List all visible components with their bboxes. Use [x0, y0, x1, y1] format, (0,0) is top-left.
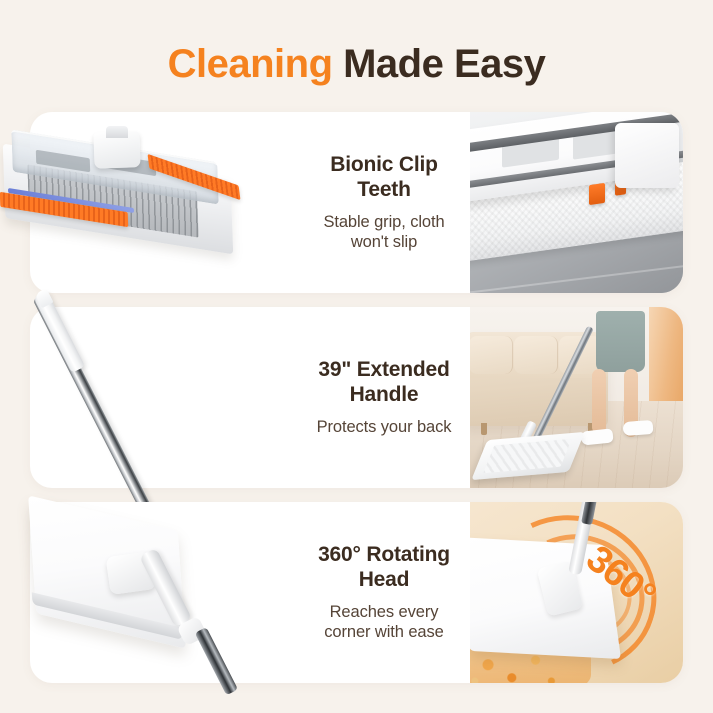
feature-subtitle-line-1: Protects your back	[317, 417, 452, 437]
feature-subtitle: Protects your back	[317, 417, 452, 437]
feature-card-extended-handle[interactable]: 39" Extended Handle Protects your back	[30, 307, 683, 488]
feature-title: Bionic Clip Teeth	[330, 153, 437, 203]
feature-subtitle-line-1: Reaches every	[324, 602, 443, 622]
feature-title-line-2: Head	[318, 568, 450, 593]
sofa-leg	[481, 423, 487, 435]
feature-title-line-1: Bionic Clip	[330, 153, 437, 178]
rotating-mop-head-icon	[0, 502, 278, 683]
photo-scene-clip-grip	[470, 112, 683, 293]
telescoping-handle-icon	[0, 307, 278, 488]
feature-subtitle: Stable grip, cloth won't slip	[323, 212, 444, 252]
photo-scene-360-head: 360°	[470, 502, 683, 683]
orange-clip-tooth	[589, 183, 605, 205]
feature-photo-360-rotation: 360°	[470, 502, 683, 683]
slipper-right	[623, 420, 654, 436]
header: Cleaning Made Easy	[0, 0, 713, 112]
product-image-rotating-head	[0, 502, 278, 683]
mop-pole	[195, 627, 238, 695]
feature-title-line-1: 39" Extended	[318, 358, 449, 383]
person-skirt	[596, 311, 645, 373]
mop-head-clip-teeth-icon	[0, 132, 258, 272]
sofa-cushion	[470, 336, 513, 374]
feature-card-rotating-head[interactable]: 360° Rotating Head Reaches every corner …	[30, 502, 683, 683]
page-title-accent: Cleaning	[168, 42, 333, 86]
page-title-main: Made Easy	[333, 42, 546, 86]
feature-subtitle-line-1: Stable grip, cloth	[323, 212, 444, 232]
feature-photo-mopping-room	[470, 307, 683, 488]
mop-clip-top	[106, 126, 128, 138]
feature-subtitle-line-2: corner with ease	[324, 622, 443, 642]
tile-grout-line	[470, 250, 683, 293]
feature-card-bionic-clip-teeth[interactable]: Bionic Clip Teeth Stable grip, cloth won…	[30, 112, 683, 293]
photo-scene-living-room	[470, 307, 683, 488]
window-curtain	[649, 307, 683, 401]
feature-text-block: Bionic Clip Teeth Stable grip, cloth won…	[270, 112, 498, 293]
feature-title-line-2: Handle	[318, 383, 449, 408]
product-image-clip-teeth	[0, 112, 278, 293]
feature-subtitle: Reaches every corner with ease	[324, 602, 443, 642]
feature-title-line-2: Teeth	[330, 178, 437, 203]
sofa	[470, 332, 608, 426]
mop-side-block	[615, 123, 679, 188]
feature-title-line-1: 360° Rotating	[318, 543, 450, 568]
page-title: Cleaning Made Easy	[0, 44, 713, 84]
mop-pad	[483, 438, 572, 473]
sofa-cushion	[514, 336, 557, 374]
feature-subtitle-line-2: won't slip	[323, 232, 444, 252]
feature-text-block: 39" Extended Handle Protects your back	[270, 307, 498, 488]
feature-title: 360° Rotating Head	[318, 543, 450, 593]
feature-title: 39" Extended Handle	[318, 358, 449, 408]
person-leg-left	[592, 369, 606, 434]
feature-photo-clip-grip	[470, 112, 683, 293]
feature-text-block: 360° Rotating Head Reaches every corner …	[270, 502, 498, 683]
product-image-extended-handle	[0, 307, 278, 488]
